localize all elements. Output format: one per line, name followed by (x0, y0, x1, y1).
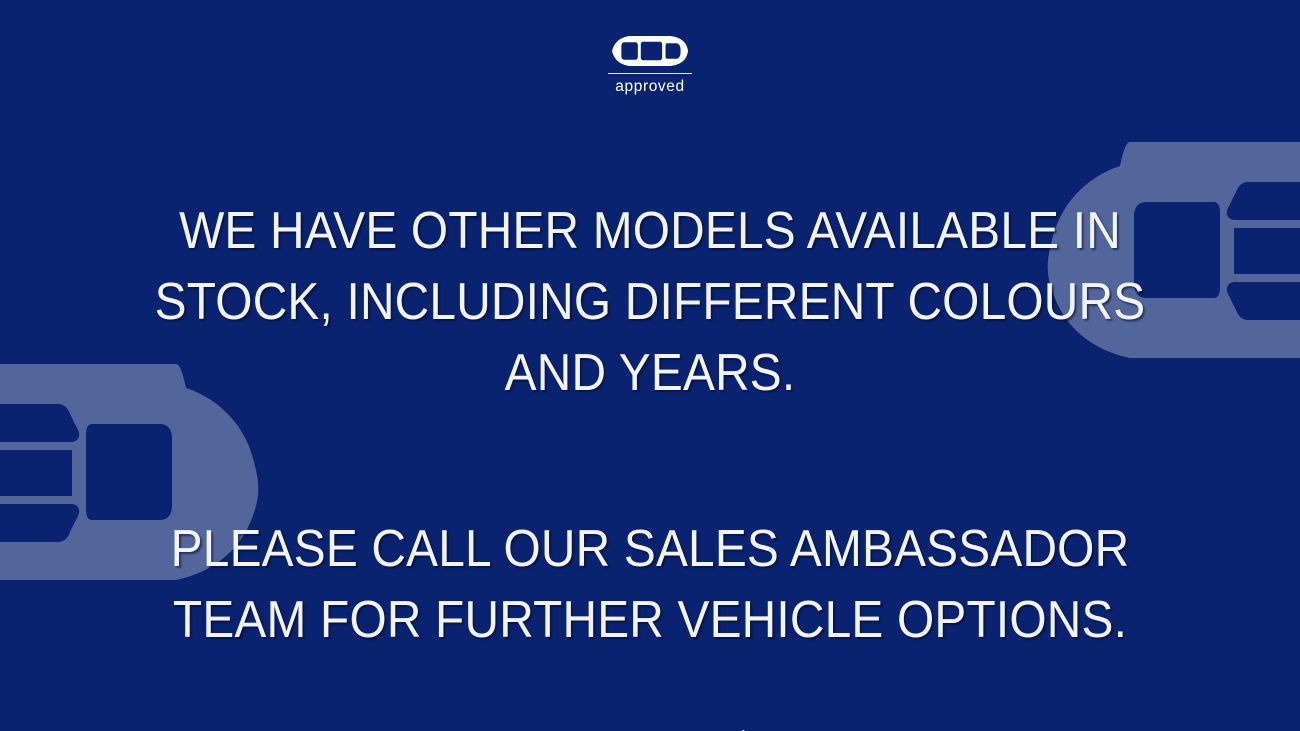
headline-secondary: PLEASE CALL OUR SALES AMBASSADOR TEAM FO… (139, 514, 1160, 656)
car-top-view-icon (611, 34, 689, 67)
brand-logo: approved (0, 34, 1300, 95)
logo-wordmark: approved (0, 79, 1300, 95)
brand-tagline: Be smart. Be approved. (549, 656, 751, 731)
message-content: WE HAVE OTHER MODELS AVAILABLE IN STOCK,… (0, 0, 1300, 731)
logo-divider-rule (608, 73, 692, 74)
headline-primary: WE HAVE OTHER MODELS AVAILABLE IN STOCK,… (139, 196, 1160, 409)
slide-canvas: approved WE HAVE OTHER MODELS AVAILABLE … (0, 0, 1300, 731)
